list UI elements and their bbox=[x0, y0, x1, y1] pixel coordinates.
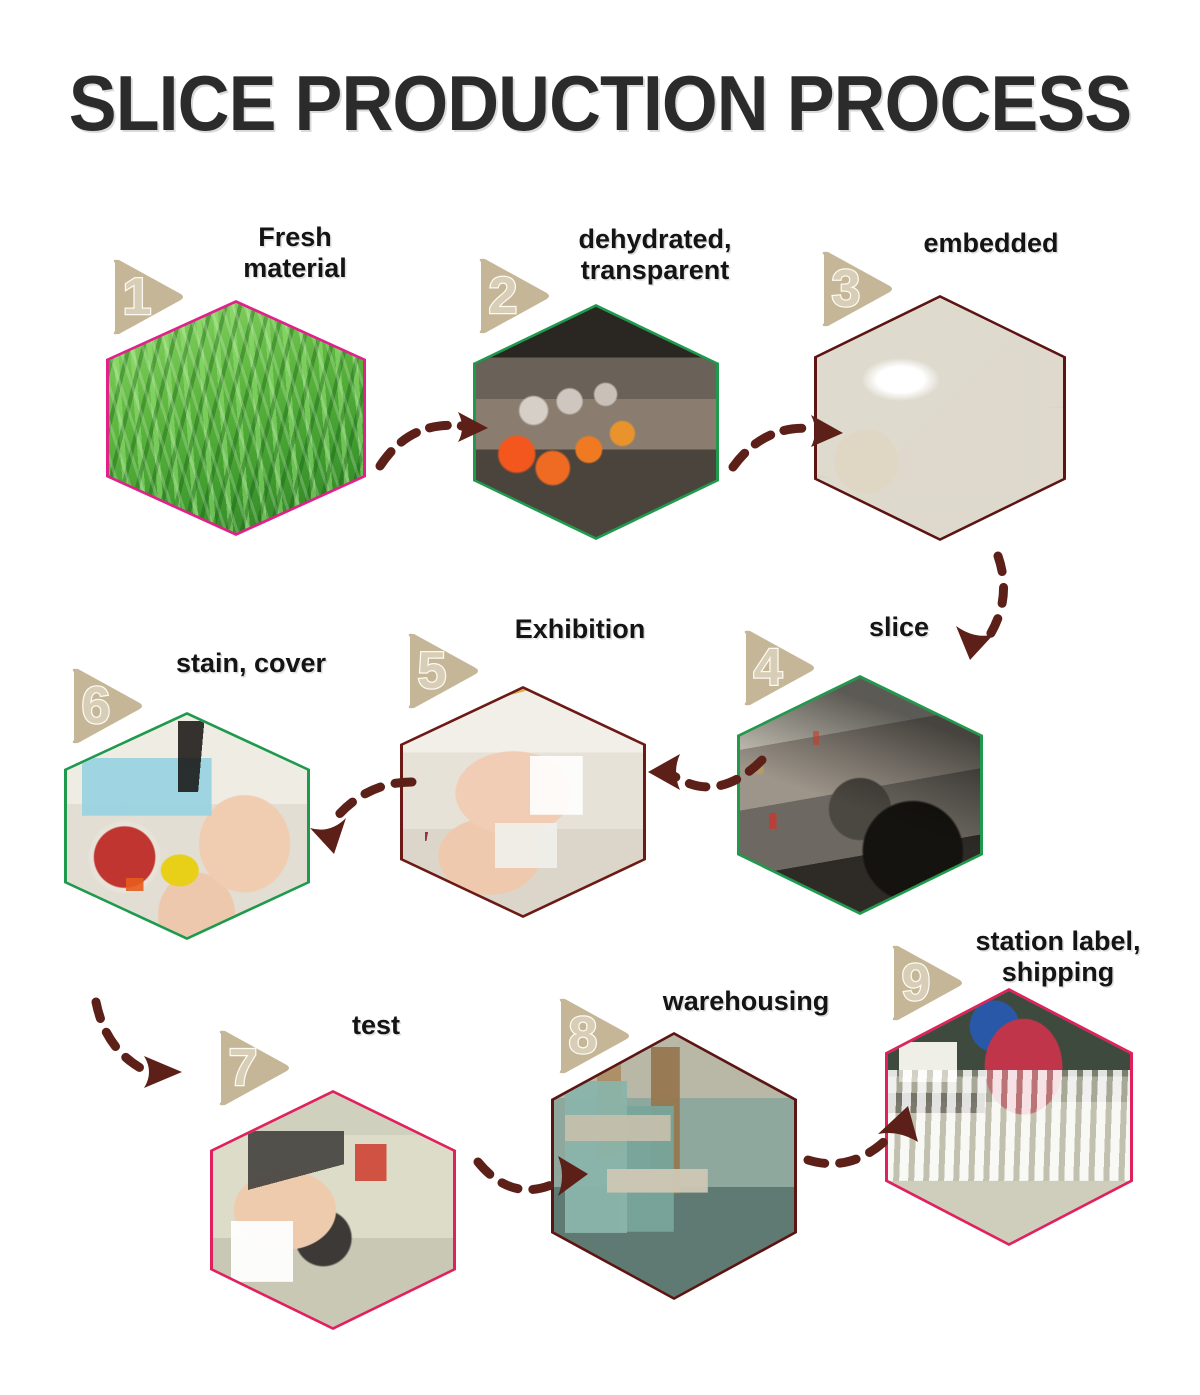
step-caption-1: Fresh material bbox=[180, 222, 410, 285]
step-photo-2 bbox=[476, 307, 716, 537]
step-caption-7: test bbox=[276, 1010, 476, 1041]
page-title: SLICE PRODUCTION PROCESS bbox=[48, 58, 1152, 149]
arrow-3-to-4 bbox=[940, 548, 1060, 673]
step-number-3: 3 bbox=[818, 254, 874, 324]
step-number-6: 6 bbox=[68, 671, 124, 741]
step-caption-3: embedded bbox=[876, 228, 1106, 259]
step-caption-8: warehousing bbox=[621, 986, 871, 1017]
step-photo-6 bbox=[67, 715, 307, 937]
step-photo-5 bbox=[403, 689, 643, 915]
step-photo-7 bbox=[213, 1093, 453, 1327]
step-caption-6: stain, cover bbox=[126, 648, 376, 679]
step-caption-4: slice bbox=[799, 612, 999, 643]
step-caption-9: station label, shipping bbox=[933, 926, 1183, 989]
step-number-7: 7 bbox=[215, 1033, 271, 1103]
step-badge-1: 1 bbox=[105, 255, 189, 339]
step-number-5: 5 bbox=[404, 636, 460, 706]
step-number-8: 8 bbox=[555, 1001, 611, 1071]
step-badge-3: 3 bbox=[814, 247, 898, 331]
step-number-4: 4 bbox=[740, 633, 796, 703]
step-photo-9 bbox=[888, 991, 1130, 1243]
step-photo-4 bbox=[740, 678, 980, 912]
step-photo-3 bbox=[817, 298, 1063, 538]
step-number-1: 1 bbox=[109, 262, 165, 332]
arrow-6-to-7 bbox=[82, 988, 207, 1093]
step-caption-2: dehydrated, transparent bbox=[535, 224, 775, 287]
step-caption-5: Exhibition bbox=[465, 614, 695, 645]
step-number-2: 2 bbox=[475, 261, 531, 331]
